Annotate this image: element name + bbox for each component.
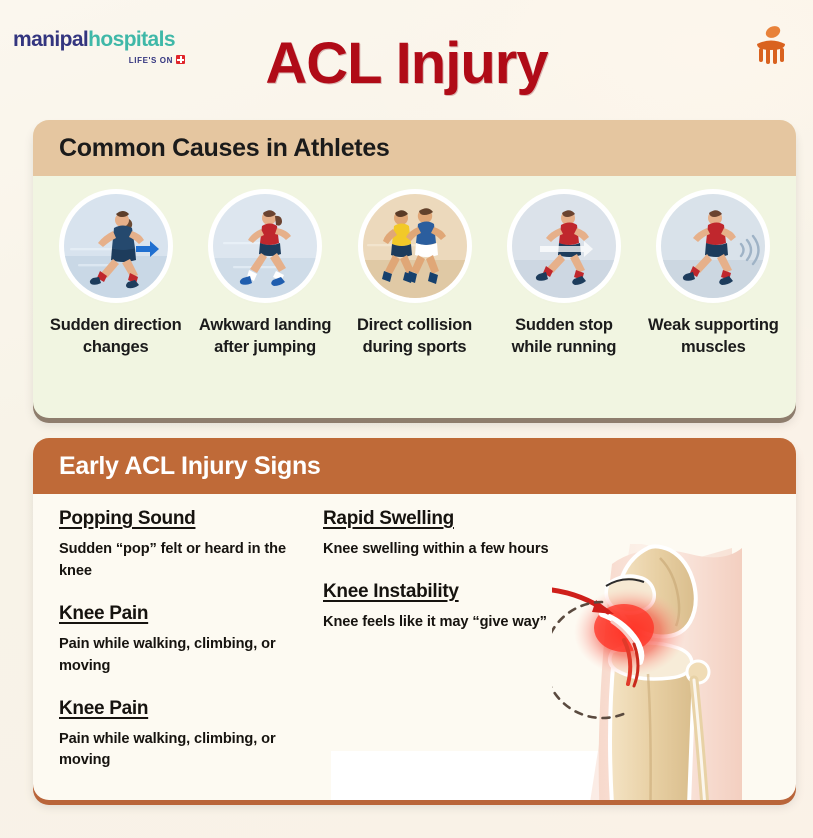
sign-title: Knee Pain — [59, 603, 309, 625]
page-title: ACL Injury — [0, 30, 813, 97]
common-causes-card: Common Causes in Athletes — [33, 120, 796, 418]
athlete-changing-direction-icon — [64, 194, 168, 298]
early-signs-body: Popping Sound Sudden “pop” felt or heard… — [33, 494, 796, 800]
cause-label: Sudden direction changes — [41, 314, 190, 359]
sign-description: Pain while walking, climbing, or moving — [59, 729, 309, 773]
common-causes-heading: Common Causes in Athletes — [33, 120, 796, 176]
cause-item[interactable]: Direct collision during sports — [340, 194, 489, 359]
cause-item[interactable]: Sudden direction changes — [41, 194, 190, 359]
page-header: manipalhospitals LIFE'S ON ACL Injury — [0, 0, 813, 118]
sign-item[interactable]: Knee Pain Pain while walking, climbing, … — [59, 603, 309, 678]
sign-item[interactable]: Knee Instability Knee feels like it may … — [323, 581, 573, 634]
cause-label: Weak supporting muscles — [639, 314, 788, 359]
sign-item[interactable]: Rapid Swelling Knee swelling within a fe… — [323, 508, 573, 561]
two-athletes-colliding-icon — [363, 194, 467, 298]
cause-item[interactable]: Weak supporting muscles — [639, 194, 788, 359]
athlete-landing-from-jump-icon — [213, 194, 317, 298]
cause-item[interactable]: Awkward landing after jumping — [190, 194, 339, 359]
orange-figure-logo-icon — [751, 24, 791, 68]
sign-title: Knee Pain — [59, 698, 309, 720]
sign-description: Knee feels like it may “give way” — [323, 612, 573, 634]
sign-title: Popping Sound — [59, 508, 309, 530]
sign-description: Knee swelling within a few hours — [323, 539, 573, 561]
signs-right-column: Rapid Swelling Knee swelling within a fe… — [323, 508, 573, 792]
early-signs-heading: Early ACL Injury Signs — [33, 438, 796, 494]
cause-label: Awkward landing after jumping — [190, 314, 339, 359]
sign-title: Rapid Swelling — [323, 508, 573, 530]
sign-title: Knee Instability — [323, 581, 573, 603]
causes-grid: Sudden direction changes — [33, 176, 796, 359]
sign-item[interactable]: Popping Sound Sudden “pop” felt or heard… — [59, 508, 309, 583]
signs-left-column: Popping Sound Sudden “pop” felt or heard… — [59, 508, 309, 792]
athlete-stopping-abruptly-icon — [512, 194, 616, 298]
cause-item[interactable]: Sudden stop while running — [489, 194, 638, 359]
sign-description: Sudden “pop” felt or heard in the knee — [59, 539, 309, 583]
athlete-weak-muscles-icon — [661, 194, 765, 298]
sign-item[interactable]: Knee Pain Pain while walking, climbing, … — [59, 698, 309, 773]
cause-label: Direct collision during sports — [340, 314, 489, 359]
cause-label: Sudden stop while running — [489, 314, 638, 359]
signs-columns: Popping Sound Sudden “pop” felt or heard… — [33, 508, 593, 792]
sign-description: Pain while walking, climbing, or moving — [59, 634, 309, 678]
early-signs-card: Early ACL Injury Signs Popping Sound Sud… — [33, 438, 796, 800]
anatomical-knee-acl-injury-illustration — [552, 544, 796, 800]
